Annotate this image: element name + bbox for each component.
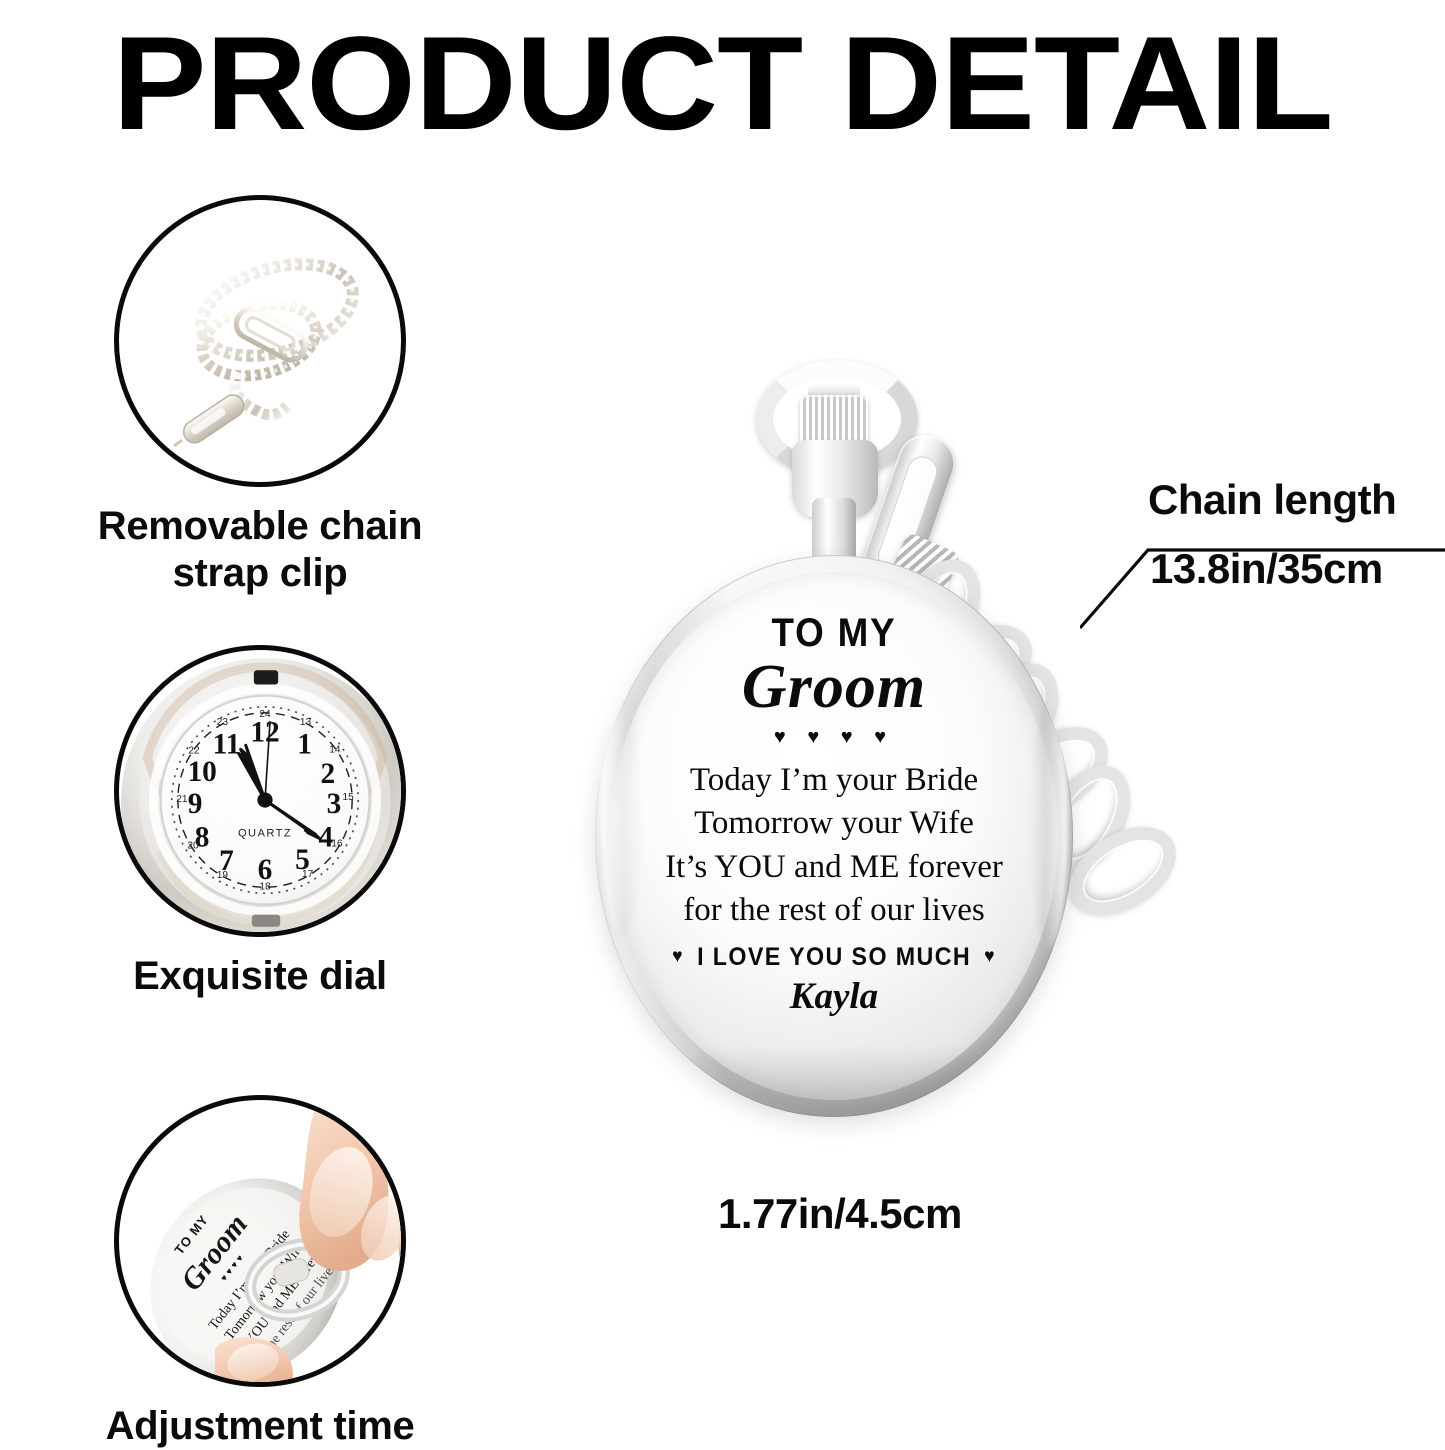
feature-image-circle-dial: 12 1 2 3 4 5 6 7 8 9 10 11 bbox=[114, 645, 406, 937]
feature-adjustment-time: TO MY Groom ♥♥♥♥ Today I’m your Bride To… bbox=[0, 1095, 520, 1450]
svg-text:10: 10 bbox=[187, 756, 216, 788]
svg-text:12: 12 bbox=[250, 716, 279, 748]
svg-text:19: 19 bbox=[217, 870, 229, 881]
feature-label-line2: strap clip bbox=[173, 551, 348, 595]
hand-turning-crown-icon: TO MY Groom ♥♥♥♥ Today I’m your Bride To… bbox=[119, 1100, 401, 1382]
watch-dial-icon: 12 1 2 3 4 5 6 7 8 9 10 11 bbox=[117, 648, 403, 934]
page-title: PRODUCT DETAIL bbox=[0, 18, 1445, 151]
heart-divider: ♥ ♥ ♥ ♥ bbox=[774, 727, 894, 747]
annotation-chain-length-label: Chain length bbox=[1148, 476, 1396, 524]
engraving-message: Today I’m your Bride Tomorrow your Wife … bbox=[665, 759, 1003, 933]
engraving-text-block: TO MY Groom ♥ ♥ ♥ ♥ Today I’m your Bride… bbox=[595, 555, 1073, 1117]
heart-icon-right: ♥ bbox=[984, 946, 996, 968]
annotation-chain-length-value: 13.8in/35cm bbox=[1150, 545, 1383, 593]
svg-text:11: 11 bbox=[213, 728, 241, 760]
engraving-recipient: Groom bbox=[742, 655, 926, 721]
svg-text:21: 21 bbox=[176, 794, 188, 805]
feature-removable-chain-strap-clip: Removable chain strap clip bbox=[0, 195, 520, 597]
svg-text:17: 17 bbox=[302, 869, 314, 880]
svg-text:18: 18 bbox=[259, 881, 271, 892]
svg-text:14: 14 bbox=[329, 744, 341, 755]
engraving-closing-text: I LOVE YOU SO MUCH bbox=[697, 943, 971, 972]
feature-label-adjustment-time: Adjustment time bbox=[0, 1403, 520, 1450]
product-image: TO MY Groom ♥ ♥ ♥ ♥ Today I’m your Bride… bbox=[560, 340, 1120, 1160]
heart-icon-left: ♥ bbox=[672, 946, 684, 968]
svg-text:20: 20 bbox=[187, 841, 199, 852]
svg-text:QUARTZ: QUARTZ bbox=[238, 828, 292, 840]
feature-image-circle-adjustment: TO MY Groom ♥♥♥♥ Today I’m your Bride To… bbox=[114, 1095, 406, 1387]
engraving-heading: TO MY bbox=[771, 613, 896, 653]
svg-text:15: 15 bbox=[342, 792, 354, 803]
engraving-line-3: It’s YOU and ME forever bbox=[665, 846, 1003, 890]
engraving-signature: Kayla bbox=[790, 978, 878, 1015]
feature-label-exquisite-dial: Exquisite dial bbox=[0, 953, 520, 1000]
feature-label-line1: Removable chain bbox=[98, 504, 423, 548]
svg-text:2: 2 bbox=[321, 758, 336, 790]
engraving-line-1: Today I’m your Bride bbox=[665, 759, 1003, 803]
feature-exquisite-dial: 12 1 2 3 4 5 6 7 8 9 10 11 bbox=[0, 645, 520, 1000]
svg-text:9: 9 bbox=[188, 788, 203, 820]
annotation-diameter-value: 1.77in/4.5cm bbox=[718, 1190, 962, 1238]
feature-image-circle-chain bbox=[114, 195, 406, 487]
svg-text:13: 13 bbox=[300, 717, 312, 728]
feature-label-removable-chain-strap-clip: Removable chain strap clip bbox=[0, 503, 520, 597]
engraving-closing: ♥ I LOVE YOU SO MUCH ♥ bbox=[672, 943, 996, 972]
svg-text:24: 24 bbox=[259, 709, 271, 720]
svg-text:16: 16 bbox=[331, 839, 343, 850]
svg-text:1: 1 bbox=[297, 728, 312, 760]
chain-coil-icon bbox=[119, 200, 401, 482]
engraving-line-2: Tomorrow your Wife bbox=[665, 802, 1003, 846]
engraving-line-4: for the rest of our lives bbox=[665, 889, 1003, 933]
svg-text:23: 23 bbox=[217, 717, 229, 728]
watch-case: TO MY Groom ♥ ♥ ♥ ♥ Today I’m your Bride… bbox=[595, 555, 1073, 1117]
svg-text:3: 3 bbox=[327, 788, 342, 820]
product-detail-page: PRODUCT DETAIL bbox=[0, 0, 1445, 1445]
svg-text:22: 22 bbox=[188, 745, 200, 756]
